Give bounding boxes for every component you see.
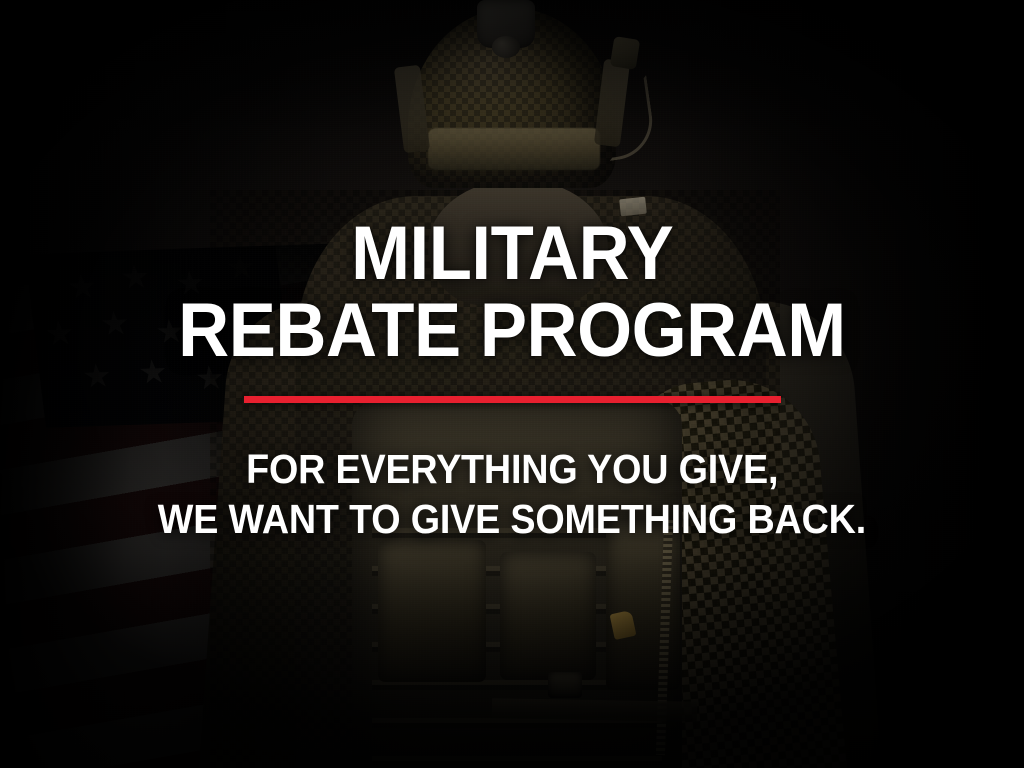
subheadline-line-2: WE WANT TO GIVE SOMETHING BACK.: [158, 497, 866, 541]
slide-canvas: MILITARY REBATE PROGRAM FOR EVERYTHING Y…: [0, 0, 1024, 768]
headline-line-2: REBATE PROGRAM: [178, 295, 846, 368]
slide-content: MILITARY REBATE PROGRAM FOR EVERYTHING Y…: [0, 0, 1024, 768]
headline-line-1: MILITARY: [351, 218, 673, 291]
subheadline-line-1: FOR EVERYTHING YOU GIVE,: [246, 447, 778, 491]
red-divider-rule: [244, 396, 781, 403]
